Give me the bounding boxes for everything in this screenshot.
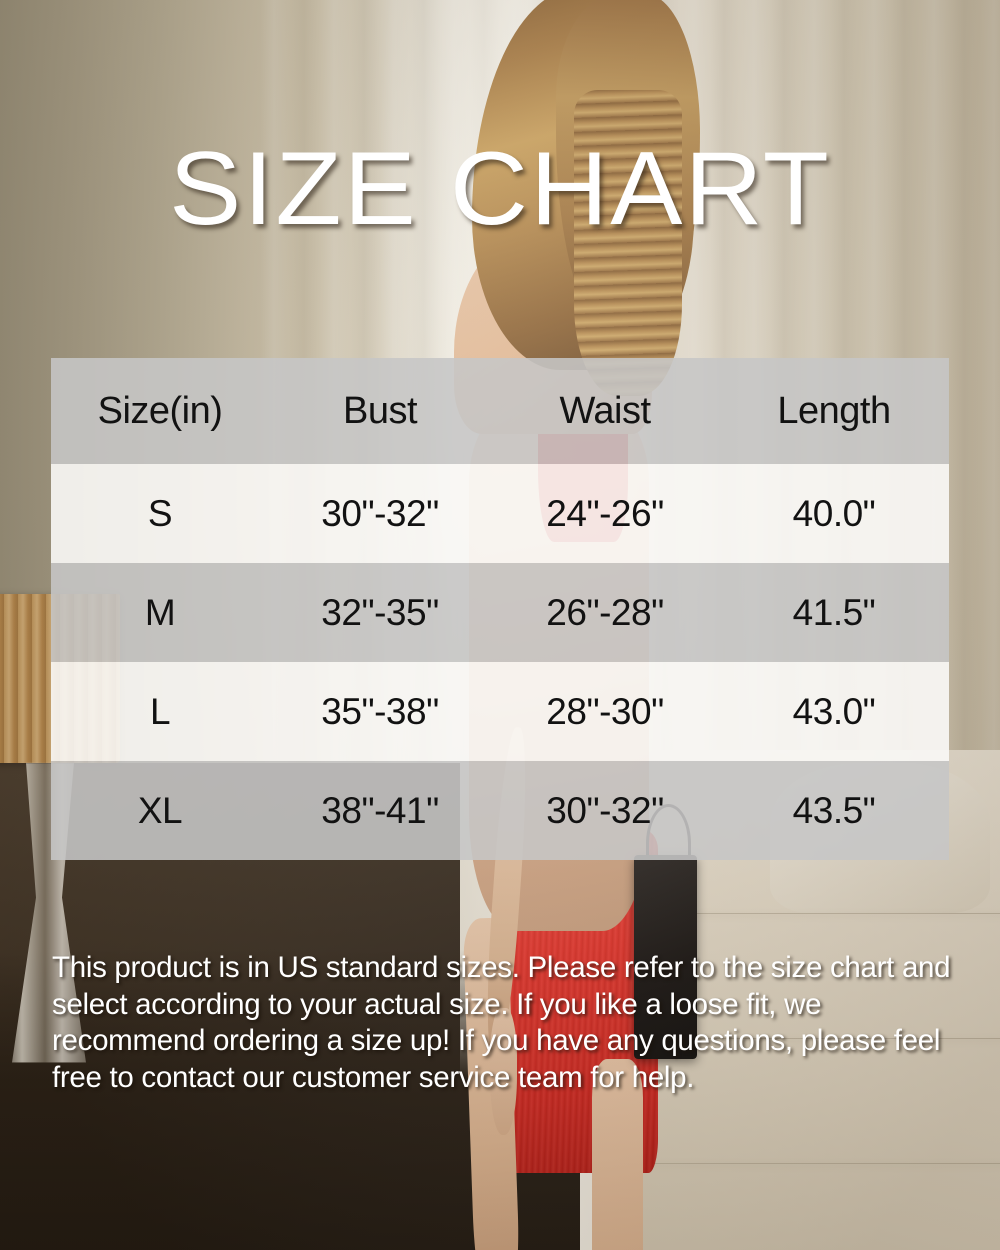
cell-size: L	[51, 662, 269, 761]
cell-bust: 38"-41"	[269, 761, 491, 860]
table-row: M 32"-35" 26"-28" 41.5"	[51, 563, 949, 662]
cell-size: XL	[51, 761, 269, 860]
size-chart-table: Size(in) Bust Waist Length S 30"-32" 24"…	[51, 358, 949, 860]
table-row: L 35"-38" 28"-30" 43.0"	[51, 662, 949, 761]
column-header-size: Size(in)	[51, 358, 269, 464]
cell-waist: 24"-26"	[491, 464, 719, 563]
cell-waist: 28"-30"	[491, 662, 719, 761]
cell-waist: 30"-32"	[491, 761, 719, 860]
column-header-length: Length	[719, 358, 949, 464]
cell-bust: 30"-32"	[269, 464, 491, 563]
cell-bust: 32"-35"	[269, 563, 491, 662]
page-title: SIZE CHART	[0, 137, 1000, 241]
column-header-waist: Waist	[491, 358, 719, 464]
size-chart-page: SIZE CHART Size(in) Bust Waist Length S …	[0, 0, 1000, 1250]
table-row: S 30"-32" 24"-26" 40.0"	[51, 464, 949, 563]
size-note: This product is in US standard sizes. Pl…	[52, 950, 954, 1096]
cell-waist: 26"-28"	[491, 563, 719, 662]
cell-length: 43.0"	[719, 662, 949, 761]
cell-size: S	[51, 464, 269, 563]
cell-size: M	[51, 563, 269, 662]
cell-length: 40.0"	[719, 464, 949, 563]
cell-length: 43.5"	[719, 761, 949, 860]
cell-length: 41.5"	[719, 563, 949, 662]
table-row: XL 38"-41" 30"-32" 43.5"	[51, 761, 949, 860]
cell-bust: 35"-38"	[269, 662, 491, 761]
column-header-bust: Bust	[269, 358, 491, 464]
table-header-row: Size(in) Bust Waist Length	[51, 358, 949, 464]
